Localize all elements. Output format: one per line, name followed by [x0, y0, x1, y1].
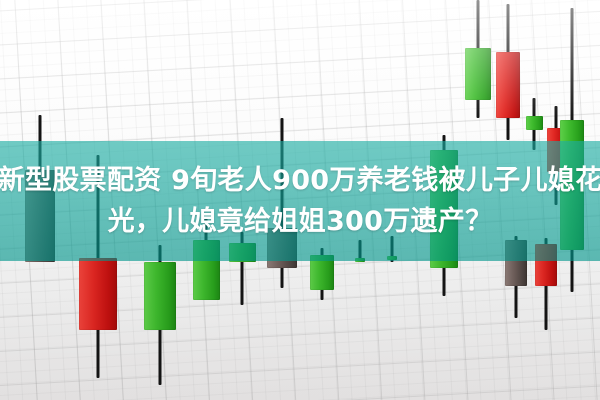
- candlestick: [144, 245, 176, 385]
- candlestick-body: [79, 258, 117, 330]
- banner-image: 新型股票配资 9旬老人900万养老钱被儿子儿媳花 光，儿媳竟给姐姐300万遗产？: [0, 0, 600, 400]
- headline-line-2: 光，儿媳竟给姐姐300万遗产？: [108, 201, 493, 242]
- candlestick-body: [526, 116, 543, 130]
- headline-text: 新型股票配资 9旬老人900万养老钱被儿子儿媳花 光，儿媳竟给姐姐300万遗产？: [0, 141, 600, 261]
- headline-line-1: 新型股票配资 9旬老人900万养老钱被儿子儿媳花: [0, 160, 600, 201]
- candlestick: [496, 4, 520, 140]
- candlestick-body: [496, 52, 520, 118]
- candlestick-body: [144, 262, 176, 330]
- candlestick-body: [465, 48, 491, 100]
- candlestick: [465, 0, 491, 118]
